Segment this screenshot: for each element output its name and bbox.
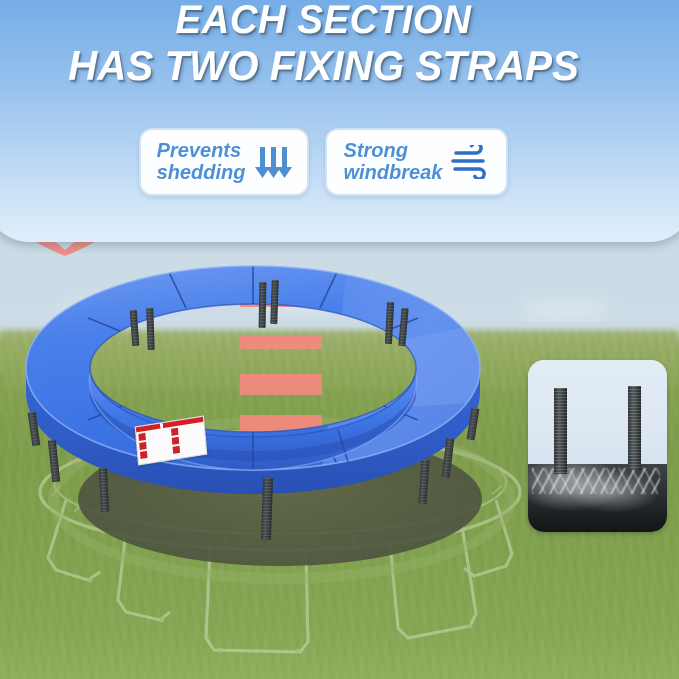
inset-fixing-strap [628, 386, 641, 470]
product-infographic: EACH SECTION HAS TWO FIXING STRAPS Preve… [0, 0, 679, 679]
wind-swoosh-icon [450, 145, 492, 179]
header-banner: EACH SECTION HAS TWO FIXING STRAPS Preve… [0, 0, 679, 242]
triple-down-arrow-icon [253, 145, 293, 179]
feature-badge-list: Prevents shedding Strong windbreak [0, 128, 663, 196]
inset-plastic-shine [532, 468, 660, 494]
inset-fixing-strap [554, 388, 567, 474]
page-title: EACH SECTION HAS TWO FIXING STRAPS [0, 0, 649, 88]
badge-label: Strong windbreak [343, 140, 442, 184]
headline-line-2: HAS TWO FIXING STRAPS [0, 43, 649, 88]
badge-prevents-shedding[interactable]: Prevents shedding [139, 128, 310, 196]
pad-front-overlap [18, 262, 488, 502]
strap-closeup-photo [528, 360, 667, 532]
cloud-shape [520, 300, 610, 320]
inset-pad-surface [528, 360, 667, 468]
badge-strong-windbreak[interactable]: Strong windbreak [325, 128, 508, 196]
badge-label: Prevents shedding [157, 140, 246, 184]
headline-line-1: EACH SECTION [0, 0, 649, 43]
